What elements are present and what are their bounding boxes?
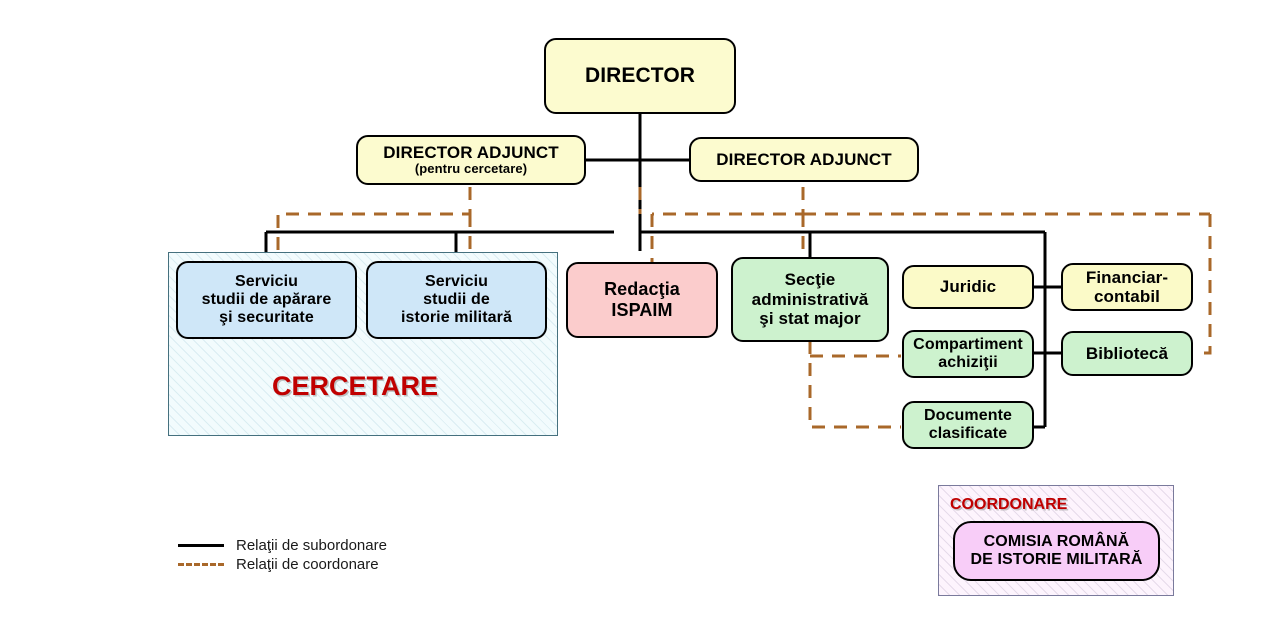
edge-coord-research-left bbox=[278, 187, 470, 262]
solid-line-icon bbox=[178, 544, 224, 547]
node-director[interactable]: DIRECTOR bbox=[544, 38, 736, 114]
legend-item-coordination: Relaţii de coordonare bbox=[178, 555, 387, 574]
node-service-defence[interactable]: Serviciu studii de apărare şi securitate bbox=[176, 261, 357, 339]
edge-coord-right-left bbox=[652, 187, 803, 214]
node-deputy-research-sublabel: (pentru cercetare) bbox=[415, 162, 527, 177]
node-deputy[interactable]: DIRECTOR ADJUNCT bbox=[689, 137, 919, 182]
node-editorial[interactable]: Redacţia ISPAIM bbox=[566, 262, 718, 338]
legend-item-subordination-label: Relaţii de subordonare bbox=[236, 537, 387, 554]
edge-coord-classified bbox=[810, 341, 901, 427]
org-chart: CERCETARE COORDONARE DIRECTOR DIRECTOR A… bbox=[0, 0, 1280, 621]
node-deputy-research[interactable]: DIRECTOR ADJUNCT (pentru cercetare) bbox=[356, 135, 586, 185]
node-commission[interactable]: COMISIA ROMÂNĂ DE ISTORIE MILITARĂ bbox=[953, 521, 1160, 581]
node-admin-section[interactable]: Secţie administrativă şi stat major bbox=[731, 257, 889, 342]
node-service-history[interactable]: Serviciu studii de istorie militară bbox=[366, 261, 547, 339]
node-finance[interactable]: Financiar- contabil bbox=[1061, 263, 1193, 311]
legend: Relaţii de subordonare Relaţii de coordo… bbox=[178, 536, 387, 574]
node-legal[interactable]: Juridic bbox=[902, 265, 1034, 309]
node-procurement[interactable]: Compartiment achiziţii bbox=[902, 330, 1034, 378]
group-research-title: CERCETARE bbox=[272, 371, 438, 402]
edge-coord-library bbox=[1196, 214, 1210, 353]
legend-item-subordination: Relaţii de subordonare bbox=[178, 536, 387, 555]
legend-item-coordination-label: Relaţii de coordonare bbox=[236, 556, 379, 573]
group-coordination-title: COORDONARE bbox=[950, 496, 1067, 514]
node-library[interactable]: Bibliotecă bbox=[1061, 331, 1193, 376]
node-deputy-research-label: DIRECTOR ADJUNCT bbox=[383, 143, 558, 162]
node-classified[interactable]: Documente clasificate bbox=[902, 401, 1034, 449]
dashed-line-icon bbox=[178, 563, 224, 566]
